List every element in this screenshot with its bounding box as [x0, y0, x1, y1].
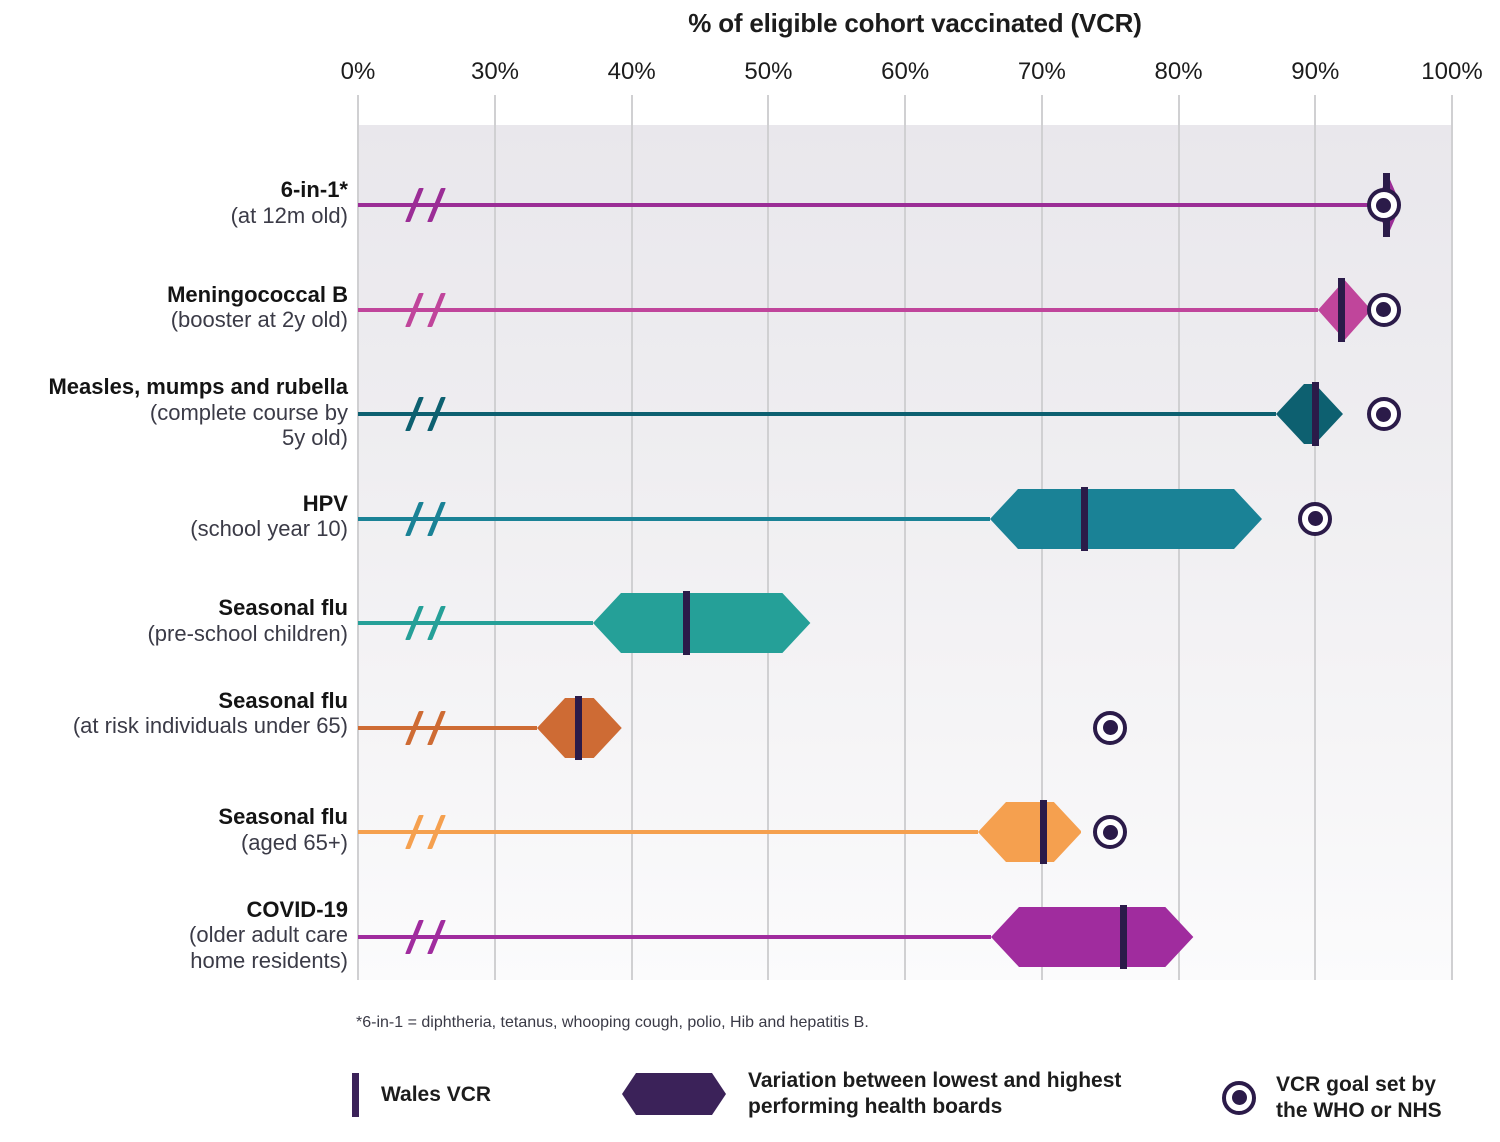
series-connector-3	[358, 517, 990, 521]
row-label-primary: Seasonal flu	[0, 804, 348, 830]
vaccination-chart: % of eligible cohort vaccinated (VCR) 0%…	[0, 0, 1500, 1142]
legend-wales-vcr: Wales VCR	[352, 1073, 491, 1117]
vcr-goal-marker-5	[1093, 711, 1127, 745]
vcr-goal-marker-0	[1367, 188, 1401, 222]
wales-vcr-marker-7	[1120, 905, 1127, 969]
legend-variation-label: Variation between lowest and highest per…	[748, 1068, 1121, 1119]
series-connector-5	[358, 726, 537, 730]
row-label-3: HPV(school year 10)	[0, 491, 348, 542]
wales-vcr-marker-icon	[352, 1073, 359, 1117]
row-label-7: COVID-19(older adult carehome residents)	[0, 897, 348, 974]
row-label-secondary: (school year 10)	[0, 516, 348, 542]
x-tick-label-40: 40%	[608, 58, 656, 86]
series-connector-1	[358, 308, 1318, 312]
series-connector-4	[358, 621, 593, 625]
row-label-secondary: (aged 65+)	[0, 830, 348, 856]
row-label-6: Seasonal flu(aged 65+)	[0, 804, 348, 855]
x-tick-label-100: 100%	[1421, 58, 1482, 86]
vcr-goal-marker-6	[1093, 815, 1127, 849]
row-label-secondary: (at 12m old)	[0, 203, 348, 229]
row-label-secondary: (at risk individuals under 65)	[0, 713, 348, 739]
series-connector-2	[358, 412, 1276, 416]
row-label-4: Seasonal flu(pre-school children)	[0, 595, 348, 646]
wales-vcr-marker-4	[683, 591, 690, 655]
vcr-goal-marker-2	[1367, 397, 1401, 431]
wales-vcr-marker-1	[1338, 278, 1345, 342]
legend-goal: VCR goal set by the WHO or NHS	[1222, 1072, 1442, 1123]
x-tick-label-90: 90%	[1291, 58, 1339, 86]
x-tick-label-0: 0%	[341, 58, 376, 86]
row-label-1: Meningococcal B(booster at 2y old)	[0, 282, 348, 333]
vcr-goal-marker-3	[1298, 502, 1332, 536]
x-tick-label-60: 60%	[881, 58, 929, 86]
row-label-5: Seasonal flu(at risk individuals under 6…	[0, 688, 348, 739]
variation-range-2	[1276, 384, 1343, 444]
variation-range-7	[991, 907, 1193, 967]
x-tick-label-50: 50%	[744, 58, 792, 86]
gridline-50	[767, 95, 769, 980]
gridline-60	[904, 95, 906, 980]
wales-vcr-marker-6	[1040, 800, 1047, 864]
x-tick-label-30: 30%	[471, 58, 519, 86]
series-connector-6	[358, 830, 978, 834]
row-label-primary: 6-in-1*	[0, 177, 348, 203]
legend-variation: Variation between lowest and highest per…	[620, 1068, 1121, 1119]
wales-vcr-marker-2	[1312, 382, 1319, 446]
row-label-secondary: (booster at 2y old)	[0, 307, 348, 333]
row-label-primary: HPV	[0, 491, 348, 517]
variation-hexagon-icon	[620, 1071, 728, 1117]
wales-vcr-marker-5	[575, 696, 582, 760]
legend-wales-vcr-label: Wales VCR	[381, 1082, 491, 1108]
row-label-2: Measles, mumps and rubella(complete cour…	[0, 374, 348, 451]
variation-range-3	[990, 489, 1262, 549]
series-connector-7	[358, 935, 991, 939]
row-label-secondary: (pre-school children)	[0, 621, 348, 647]
vcr-goal-marker-1	[1367, 293, 1401, 327]
row-label-primary: Seasonal flu	[0, 595, 348, 621]
gridline-30	[494, 95, 496, 980]
chart-title: % of eligible cohort vaccinated (VCR)	[340, 8, 1490, 39]
row-label-primary: Seasonal flu	[0, 688, 348, 714]
row-label-0: 6-in-1*(at 12m old)	[0, 177, 348, 228]
x-tick-label-80: 80%	[1155, 58, 1203, 86]
gridline-40	[631, 95, 633, 980]
series-connector-0	[358, 203, 1375, 207]
row-label-secondary: (older adult carehome residents)	[0, 922, 348, 973]
row-label-primary: COVID-19	[0, 897, 348, 923]
gridline-90	[1314, 95, 1316, 980]
row-label-secondary: (complete course by5y old)	[0, 400, 348, 451]
variation-range-4	[593, 593, 810, 653]
gridline-0	[357, 95, 359, 980]
wales-vcr-marker-3	[1081, 487, 1088, 551]
x-tick-label-70: 70%	[1018, 58, 1066, 86]
row-label-primary: Measles, mumps and rubella	[0, 374, 348, 400]
variation-range-6	[978, 802, 1082, 862]
gridline-100	[1451, 95, 1453, 980]
vcr-goal-target-icon	[1222, 1081, 1256, 1115]
footnote: *6-in-1 = diphtheria, tetanus, whooping …	[356, 1014, 869, 1032]
legend-goal-label: VCR goal set by the WHO or NHS	[1276, 1072, 1442, 1123]
row-label-primary: Meningococcal B	[0, 282, 348, 308]
